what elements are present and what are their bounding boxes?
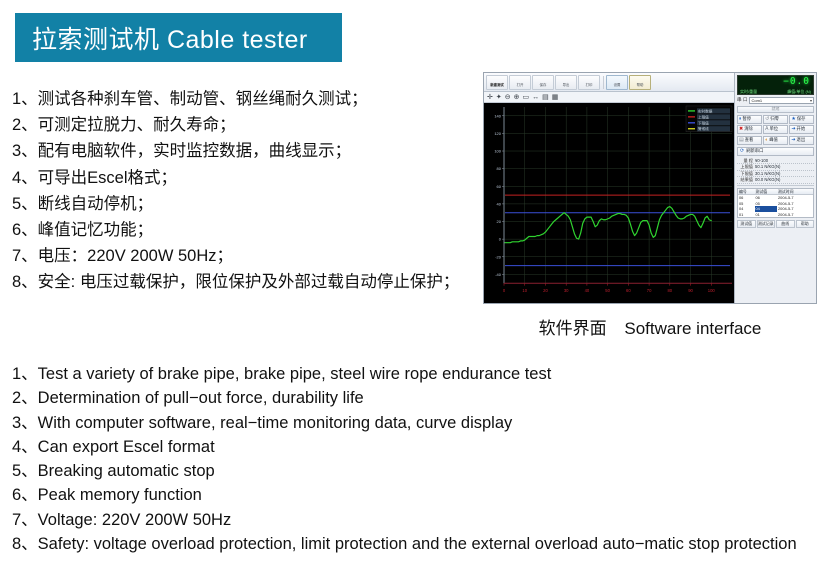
footer-tab-help[interactable]: 帮助 [796,220,815,228]
toolbar-button-help[interactable]: 帮助 [629,75,651,90]
svg-text:80: 80 [667,288,672,293]
software-interface-screenshot: 新建测试 打开 保存 导出 打印 设置 帮助 ✛ ✦ ⊖ ⊕ ▭ ↔ ▤ ▦ 1… [483,72,817,304]
zoom-in-icon[interactable]: ⊕ [514,94,520,101]
stop-icon: ✖ [739,127,743,132]
control-button-unit[interactable]: A 单位 [763,125,788,134]
control-button-peak[interactable]: ◐ 峰值 [763,136,788,145]
panel-footer-tabs: 测试值 测试记录 曲线 帮助 [737,220,814,228]
port-value: Com1 [751,99,762,103]
page-title-banner: 拉索测试机 Cable tester [15,13,342,62]
star-icon: ★ [791,117,795,122]
readout-value: 30.1 N/KG(N) [755,171,814,177]
control-button-label: 开始 [797,127,806,131]
svg-text:90: 90 [688,288,693,293]
svg-text:140: 140 [494,113,501,118]
readout-row: 上限值 50.1 N/KG(N) [737,164,814,171]
toolbar-button-print[interactable]: 打印 [578,75,600,90]
readout-value: 00.0 N/KG(N) [755,177,814,183]
spec-item-en-5: 5、Breaking automatic stop [12,459,817,483]
spec-item-cn-1: 1、测试各种刹车管、制动管、钢丝绳耐久测试； [12,86,472,112]
spec-item-cn-7: 7、电压：220V 200W 50Hz； [12,243,472,269]
svg-text:70: 70 [647,288,652,293]
svg-text:上限值: 上限值 [698,114,709,119]
toolbar-button-new-test[interactable]: 新建测试 [486,75,508,90]
exit-icon: ➔ [791,138,795,143]
svg-text:60: 60 [626,288,631,293]
svg-text:下限值: 下限值 [698,120,709,125]
svg-text:30: 30 [564,288,569,293]
svg-text:-20: -20 [495,254,502,259]
spec-list-chinese: 1、测试各种刹车管、制动管、钢丝绳耐久测试； 2、可测定拉脱力、耐久寿命； 3、… [12,86,472,296]
readout-key: 下限值 [737,171,753,177]
spec-item-en-6: 6、Peak memory function [12,483,817,507]
spec-item-cn-8: 8、安全: 电压过载保护，限位保护及外部过载自动停止保护； [12,269,472,295]
readout-key: 结果值 [737,177,753,183]
control-button-grid: ⏸ 暂停 ↺ 归零 ★ 保存 ✖ 清除 A 单位 ➜ 开始 [737,115,814,145]
port-selector-row: 串 口 Com1 ▾ [737,97,814,104]
table-cell: 01 [738,212,755,217]
list-icon: ▤ [739,138,744,143]
toolbar-button-save[interactable]: 保存 [532,75,554,90]
readout-value: ¥0-100 [755,158,814,164]
control-button-exit[interactable]: ➔ 退出 [789,136,814,145]
control-button-label: 归零 [770,117,779,121]
refresh-icon: ⟳ [740,148,744,154]
spec-item-en-1: 1、Test a variety of brake pipe, brake pi… [12,362,817,386]
control-button-label: 暂停 [743,117,752,121]
chart-legend: 实时数据上限值下限值警戒线 [686,106,732,132]
save-icon[interactable]: ▤ [542,94,549,101]
star-icon[interactable]: ✦ [496,94,502,101]
zoom-out-icon[interactable]: ⊖ [505,94,511,101]
chevron-down-icon: ▾ [810,99,812,103]
control-button-pause[interactable]: ⏸ 暂停 [737,115,762,124]
refresh-port-button[interactable]: ⟳ 刷新串口 [737,147,814,156]
open-icon: ➜ [791,127,795,132]
readout-row: 结果值 00.0 N/KG(N) [737,177,814,184]
chart-canvas: 140120100806040200-20-40 010203040506070… [484,103,736,303]
spec-item-cn-2: 2、可测定拉脱力、耐久寿命； [12,112,472,138]
table-cell: 01 [755,212,778,217]
port-label: 串 口 [737,98,747,103]
arrows-icon[interactable]: ↔ [532,94,539,101]
page-title: 拉索测试机 Cable tester [15,20,308,56]
control-button-save[interactable]: ★ 保存 [789,115,814,124]
toolbar-button-settings[interactable]: 设置 [606,75,628,90]
software-toolbar: 新建测试 打开 保存 导出 打印 设置 帮助 [484,73,736,92]
control-button-zero[interactable]: ↺ 归零 [763,115,788,124]
led-right-caption: 峰值/单位 (N) [787,90,811,94]
spec-item-cn-3: 3、配有电脑软件，实时监控数据，曲线显示； [12,138,472,164]
table-header-cell: 测试时间 [777,189,813,194]
reset-icon: ↺ [765,117,769,122]
print-icon[interactable]: ▦ [552,94,559,101]
svg-text:-40: -40 [495,272,502,277]
svg-text:实时数据: 实时数据 [698,108,713,113]
refresh-port-label: 刷新串口 [746,148,763,154]
readout-value: 50.1 N/KG(N) [755,164,814,170]
readout-key: 量 程 [737,158,753,164]
led-caption-row: 实时/重量 峰值/单位 (N) [740,90,811,94]
toolbar-separator [603,76,604,89]
control-button-label: 退出 [797,138,806,142]
plus-icon[interactable]: ✛ [487,94,493,101]
speed-icon: ◐ [765,138,768,143]
chart-background [484,103,736,303]
led-left-caption: 实时/重量 [740,90,757,94]
caption-english: Software interface [624,319,761,338]
pan-icon[interactable]: ▭ [523,94,530,101]
svg-text:10: 10 [522,288,527,293]
readout-key: 上限值 [737,164,753,170]
footer-tab-values[interactable]: 测试值 [737,220,756,228]
svg-text:20: 20 [543,288,548,293]
svg-text:40: 40 [585,288,590,293]
svg-text:警戒线: 警戒线 [698,126,709,131]
software-chart-toolbar: ✛ ✦ ⊖ ⊕ ▭ ↔ ▤ ▦ [484,92,736,103]
control-button-label: 查看 [745,138,754,142]
readout-values: 量 程 ¥0-100 上限值 50.1 N/KG(N) 下限值 30.1 N/K… [737,158,814,186]
software-chart-pane: 新建测试 打开 保存 导出 打印 设置 帮助 ✛ ✦ ⊖ ⊕ ▭ ↔ ▤ ▦ 1… [484,73,736,303]
unit-icon: A [765,127,768,132]
control-button-clear[interactable]: ✖ 清除 [737,125,762,134]
footer-tab-records[interactable]: 测试记录 [757,220,776,228]
table-row[interactable]: 01 01 2004-5-7 [738,212,813,217]
software-control-panel: −0.0 实时/重量 峰值/单位 (N) 串 口 Com1 ▾ 就绪 ⏸ 暂停 … [734,73,816,303]
table-cell: 2004-5-7 [777,212,813,217]
spec-item-cn-6: 6、峰值记忆功能； [12,217,472,243]
footer-tab-curve[interactable]: 曲线 [776,220,795,228]
control-button-label: 单位 [770,127,779,131]
test-records-table[interactable]: 编号 测试值 测试时间 06 06 2004-5-7 05 05 2004-5-… [737,188,814,218]
pause-icon: ⏸ [739,117,742,122]
spec-item-en-2: 2、Determination of pull−out force, durab… [12,386,817,410]
spec-item-cn-5: 5、断线自动停机； [12,191,472,217]
spec-list-english: 1、Test a variety of brake pipe, brake pi… [12,362,817,556]
led-value: −0.0 [783,77,810,87]
toolbar-button-export[interactable]: 导出 [555,75,577,90]
table-header-cell: 测试值 [755,189,778,194]
toolbar-button-open[interactable]: 打开 [509,75,531,90]
spec-item-en-7: 7、Voltage: 220V 200W 50Hz [12,508,817,532]
port-select[interactable]: Com1 ▾ [749,97,814,104]
control-button-label: 保存 [797,117,806,121]
spec-item-en-8: 8、Safety: voltage overload protection, l… [12,532,817,556]
control-button-start[interactable]: ➜ 开始 [789,125,814,134]
table-header-cell: 编号 [738,189,755,194]
spec-item-en-3: 3、With computer software, real−time moni… [12,411,817,435]
screenshot-caption: 软件界面 Software interface [483,314,817,339]
svg-text:50: 50 [605,288,610,293]
svg-text:100: 100 [494,149,501,154]
status-strip: 就绪 [737,106,814,113]
control-button-view[interactable]: ▤ 查看 [737,136,762,145]
svg-text:120: 120 [494,131,501,136]
control-button-label: 清除 [744,127,753,131]
led-readout-display: −0.0 实时/重量 峰值/单位 (N) [737,75,814,95]
realtime-chart[interactable]: 140120100806040200-20-40 010203040506070… [484,103,736,303]
spec-item-en-4: 4、Can export Escel format [12,435,817,459]
control-button-label: 峰值 [769,138,778,142]
svg-text:100: 100 [708,288,716,293]
spec-item-cn-4: 4、可导出Escel格式； [12,165,472,191]
caption-chinese: 软件界面 [539,319,607,338]
